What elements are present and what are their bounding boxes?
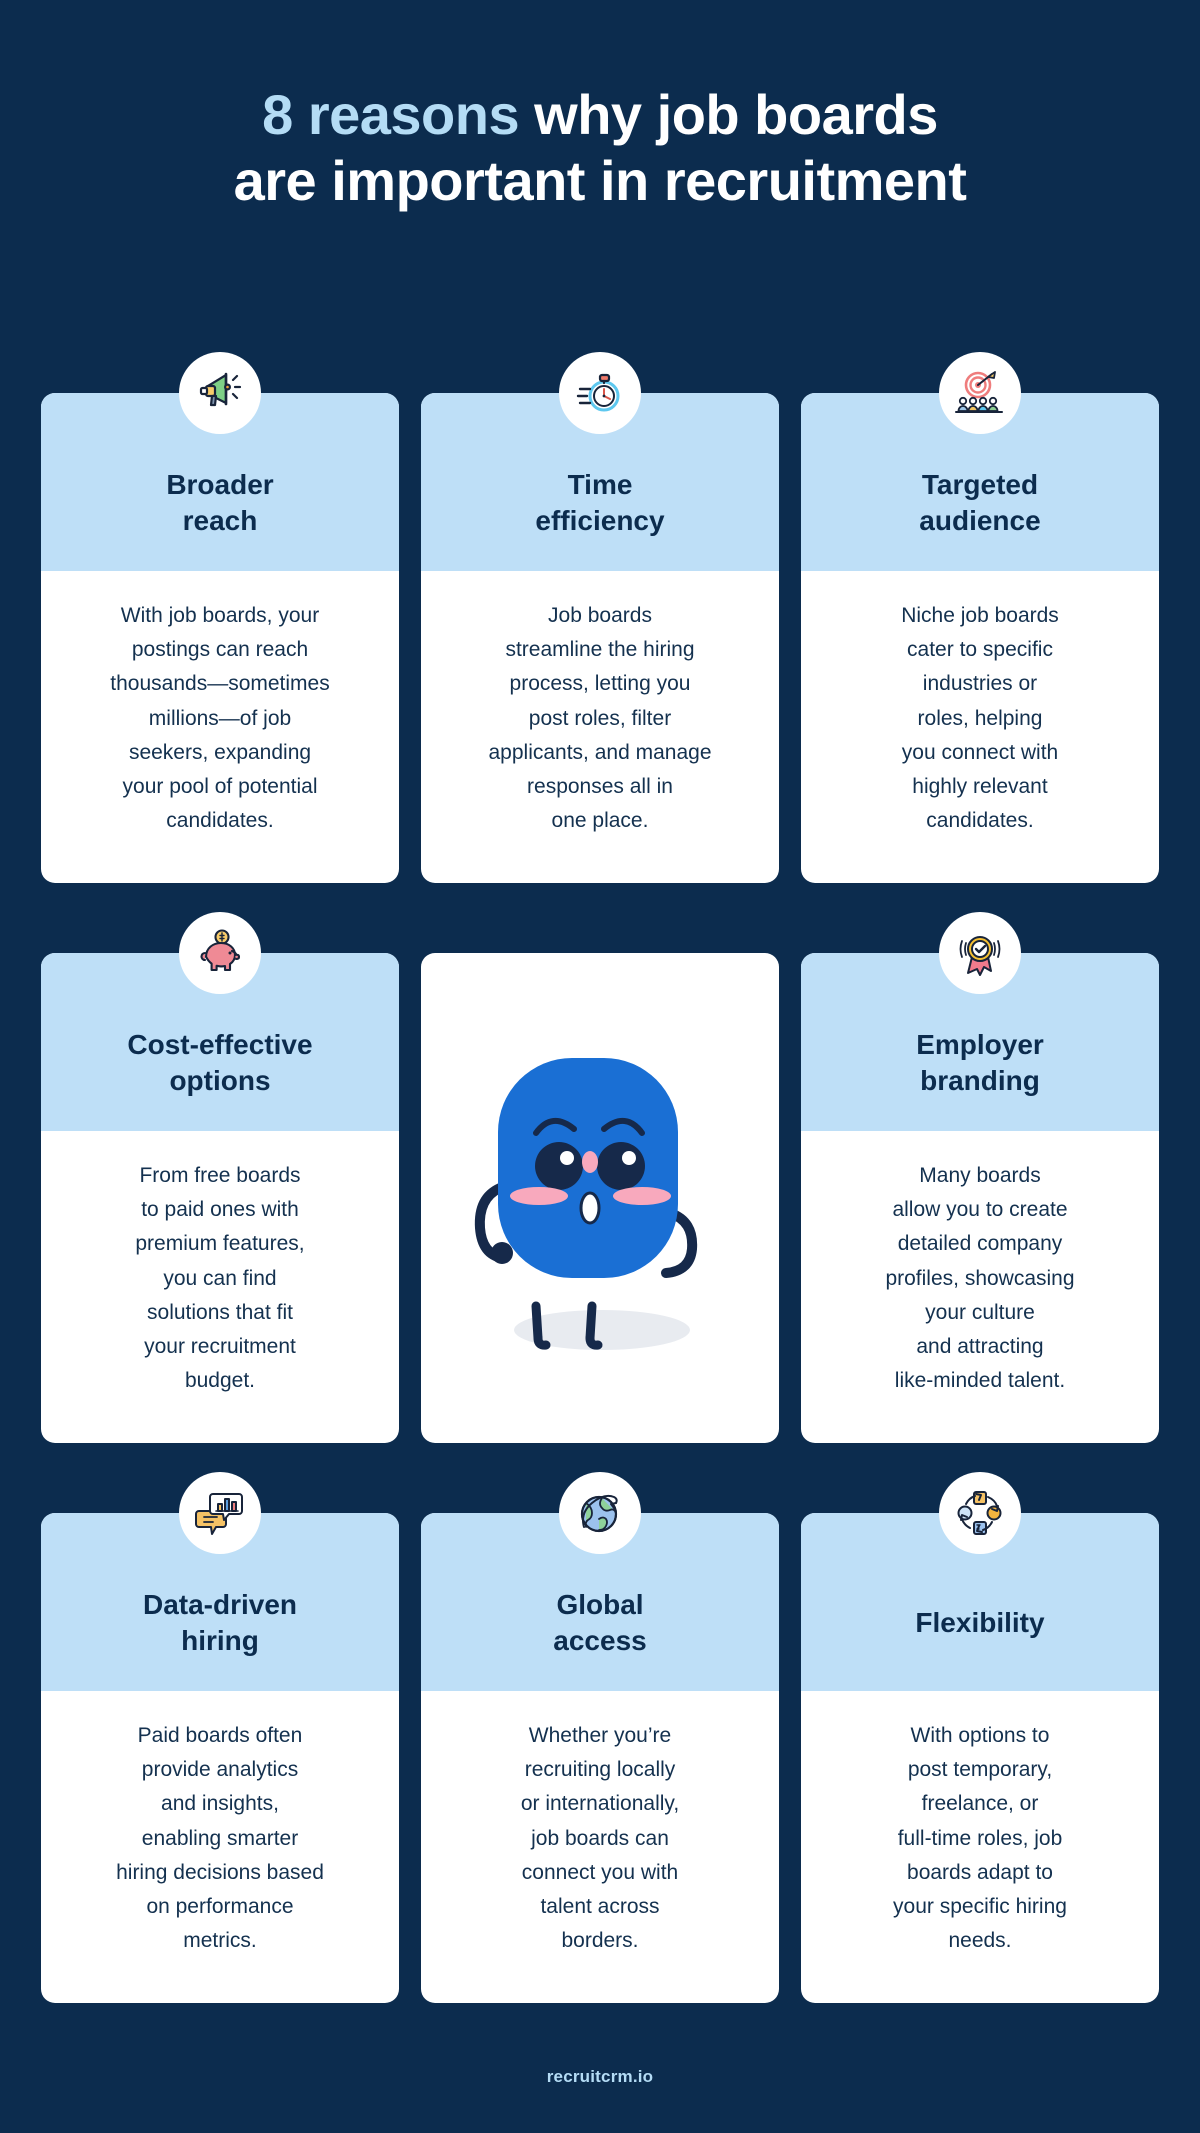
card-title: Flexibility (915, 1605, 1044, 1641)
card-title: Targeted audience (919, 467, 1040, 539)
piggy-bank-icon (179, 912, 261, 994)
card-body: Paid boards often provide analytics and … (41, 1691, 399, 2003)
stopwatch-icon (559, 352, 641, 434)
card-text: With options to post temporary, freelanc… (893, 1719, 1067, 1959)
card-body: From free boards to paid ones with premi… (41, 1131, 399, 1443)
card-title: Cost-effective options (127, 1027, 312, 1099)
card-text: With job boards, your postings can reach… (110, 599, 329, 839)
card-body: Whether you’re recruiting locally or int… (421, 1691, 779, 2003)
card-title: Employer branding (916, 1027, 1044, 1099)
flexibility-cycle-icon (939, 1472, 1021, 1554)
page-title: 8 reasons why job boards are important i… (0, 82, 1200, 213)
reason-card-cost-effective-options[interactable]: Cost-effective options From free boards … (41, 953, 399, 1443)
card-body: Job boards streamline the hiring process… (421, 571, 779, 883)
footer-brand: recruitcrm.io (0, 2067, 1200, 2087)
reason-card-time-efficiency[interactable]: Time efficiency Job boards streamline th… (421, 393, 779, 883)
globe-icon (559, 1472, 641, 1554)
page-header: 8 reasons why job boards are important i… (0, 0, 1200, 213)
reason-card-employer-branding[interactable]: Employer branding Many boards allow you … (801, 953, 1159, 1443)
card-title: Broader reach (166, 467, 273, 539)
card-text: Many boards allow you to create detailed… (885, 1159, 1074, 1399)
page-title-accent: 8 reasons (262, 83, 519, 146)
reason-card-data-driven-hiring[interactable]: Data-driven hiring Paid boards often pro… (41, 1513, 399, 2003)
card-text: From free boards to paid ones with premi… (135, 1159, 304, 1399)
page-title-line2: are important in recruitment (234, 149, 967, 212)
card-body: Niche job boards cater to specific indus… (801, 571, 1159, 883)
card-text: Whether you’re recruiting locally or int… (521, 1719, 679, 1959)
page-title-rest-line1: why job boards (519, 83, 938, 146)
reason-card-global-access[interactable]: Global access Whether you’re recruiting … (421, 1513, 779, 2003)
megaphone-icon (179, 352, 261, 434)
card-text: Paid boards often provide analytics and … (116, 1719, 324, 1959)
mascot-illustration (421, 953, 779, 1443)
card-body: Many boards allow you to create detailed… (801, 1131, 1159, 1443)
card-body: With job boards, your postings can reach… (41, 571, 399, 883)
card-text: Job boards streamline the hiring process… (489, 599, 712, 839)
card-body: With options to post temporary, freelanc… (801, 1691, 1159, 2003)
award-ribbon-icon (939, 912, 1021, 994)
target-audience-icon (939, 352, 1021, 434)
reason-card-targeted-audience[interactable]: Targeted audience Niche job boards cater… (801, 393, 1159, 883)
card-title: Data-driven hiring (143, 1587, 297, 1659)
chart-speech-bubble-icon (179, 1472, 261, 1554)
card-title: Time efficiency (535, 467, 664, 539)
reason-card-flexibility[interactable]: Flexibility With options to post tempora… (801, 1513, 1159, 2003)
reason-card-broader-reach[interactable]: Broader reach With job boards, your post… (41, 393, 399, 883)
mascot-card (421, 953, 779, 1443)
card-text: Niche job boards cater to specific indus… (901, 599, 1059, 839)
reasons-grid: Broader reach With job boards, your post… (41, 393, 1159, 2003)
card-title: Global access (553, 1587, 646, 1659)
